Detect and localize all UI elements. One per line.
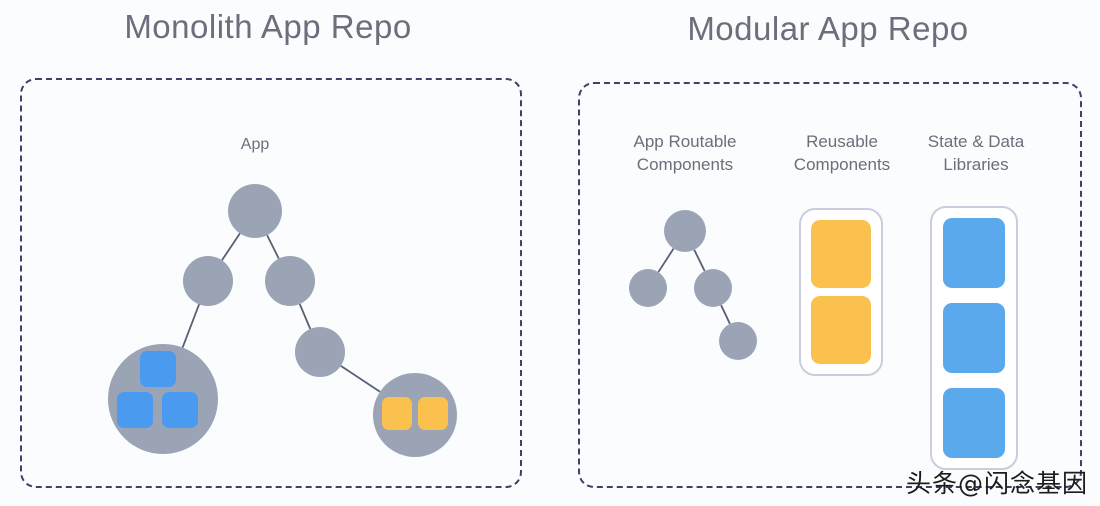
stack-card [811, 296, 871, 364]
tree-node-root [664, 210, 706, 252]
tree-edge [341, 366, 380, 392]
stack-card [943, 388, 1005, 458]
tree-edge [721, 305, 730, 324]
cluster-tile [140, 351, 176, 387]
cluster-tile [418, 397, 448, 430]
tree-node-child-right [265, 256, 315, 306]
tree-node-grandchild [295, 327, 345, 377]
tree-edge [694, 250, 704, 271]
tree-edge [222, 233, 240, 260]
watermark-text: 头条@闪念基因 [906, 464, 1088, 500]
reusable-components-stack [799, 208, 883, 376]
monolith-tree-nodes [183, 184, 345, 377]
tree-node-child-right [694, 269, 732, 307]
diagram-canvas: Monolith App Repo Modular App Repo App A… [0, 0, 1100, 506]
tree-edge [658, 249, 673, 272]
stack-card [811, 220, 871, 288]
tree-edge [300, 304, 311, 329]
cluster-tile [162, 392, 198, 428]
tree-edge [267, 235, 279, 258]
tree-edge [183, 304, 199, 347]
tree-node-root [228, 184, 282, 238]
stack-card [943, 218, 1005, 288]
tree-node-child-left [183, 256, 233, 306]
modular-tree-nodes [629, 210, 757, 360]
cluster-tile [117, 392, 153, 428]
cluster-tile [382, 397, 412, 430]
state-data-libraries-stack [930, 206, 1018, 470]
tree-node-child-left [629, 269, 667, 307]
tree-node-grandchild [719, 322, 757, 360]
monolith-tree-clusters [108, 344, 457, 457]
stack-card [943, 303, 1005, 373]
